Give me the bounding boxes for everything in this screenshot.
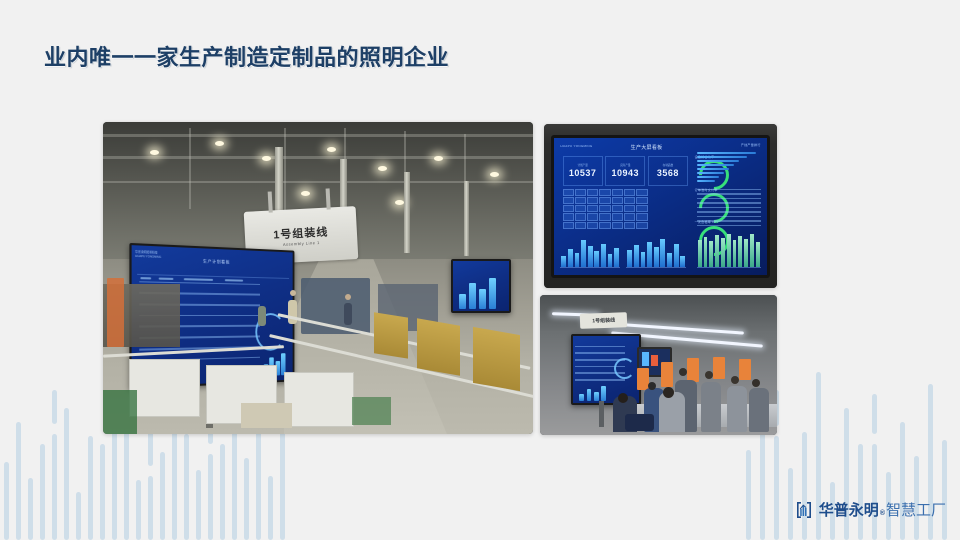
chart-bar (581, 240, 586, 267)
chart-bar (614, 248, 619, 267)
grid-cell (587, 213, 598, 220)
chart-bar (641, 252, 646, 267)
decor-bar (844, 408, 849, 540)
registered-mark: ® (880, 510, 885, 517)
grid-cell (587, 205, 598, 212)
decor-bar (746, 450, 751, 540)
decor-bar (774, 436, 779, 540)
kpi-label: 计划产量 (577, 163, 587, 167)
decor-bar (872, 394, 877, 434)
sign-label-cn: 1号组装线 (273, 224, 329, 243)
sign-label-cn: 1号组装线 (592, 317, 615, 325)
decor-bar (64, 408, 69, 540)
grid-cell (563, 197, 574, 204)
chart-bar (654, 247, 659, 267)
kpi-card: 实际产量 10943 (605, 156, 645, 185)
grid-cell (587, 222, 598, 229)
line-ranking-chart (697, 151, 761, 184)
grid-cell (624, 189, 635, 196)
worker (659, 392, 685, 432)
kpi-label: 在制品数 (663, 163, 673, 167)
grid-cell (599, 197, 610, 204)
kpi-card: 计划产量 10537 (563, 156, 603, 185)
assembly-line-overview-photo: 1号组装线 Assembly Line 1 华普永明照明科技 HUAPU YON… (103, 122, 533, 434)
chart-bar (704, 237, 708, 268)
grid-cell (599, 222, 610, 229)
decor-bar (136, 480, 141, 540)
grid-cell (612, 205, 623, 212)
table-row (697, 207, 761, 209)
grid-cell (599, 205, 610, 212)
footer-logo: 华普永明®智慧工厂 (794, 499, 946, 520)
decor-bar (16, 422, 21, 540)
page-title: 业内唯一一家生产制造定制品的照明企业 (44, 40, 449, 72)
footer-brand: 华普永明 (819, 499, 879, 520)
grid-cell (612, 213, 623, 220)
dashboard-title: 生产大屏看板 (631, 144, 663, 151)
screen-title-bar: 生产计划看板 (135, 249, 290, 272)
chart-bar (738, 236, 742, 267)
chart-bar (627, 250, 632, 267)
kpi-value: 10943 (611, 168, 639, 178)
decor-bar (160, 452, 165, 540)
decor-bar (88, 436, 93, 540)
workers-assembly-line-photo: 1号组装线 (540, 295, 777, 435)
decor-bar (788, 468, 793, 540)
workshop-output-chart (626, 233, 686, 271)
chart-bar (715, 235, 719, 267)
shift-output-grid (563, 189, 648, 229)
grid-cell (636, 222, 647, 229)
chart-bar (568, 249, 573, 267)
table-row (697, 189, 761, 191)
chart-bar (698, 240, 702, 268)
kpi-value: 3568 (657, 168, 679, 178)
line-board-screen (571, 334, 641, 405)
decor-bar (914, 456, 919, 540)
decor-bar (942, 440, 947, 540)
screen-title: 生产计划看板 (203, 258, 230, 265)
decor-bar (4, 462, 9, 540)
table-row (697, 198, 761, 200)
capacity-analysis-chart (697, 233, 761, 271)
decor-bar (196, 470, 201, 540)
rank-bar (697, 172, 724, 174)
grid-cell (563, 189, 574, 196)
chart-bar (634, 245, 639, 267)
decor-bar (802, 432, 807, 540)
decor-bar (858, 444, 863, 540)
grid-cell (563, 205, 574, 212)
table-row (697, 225, 761, 227)
grid-cell (612, 197, 623, 204)
worker (749, 388, 769, 432)
decor-bar (28, 478, 33, 540)
kpi-card: 在制品数 3568 (648, 156, 688, 185)
kpi-value: 10537 (569, 168, 597, 178)
decor-bar (900, 422, 905, 540)
grid-cell (599, 189, 610, 196)
decor-bar (220, 444, 225, 540)
decor-bar (268, 476, 273, 540)
table-row (697, 211, 761, 213)
chart-bar (647, 242, 652, 267)
decor-bar (112, 422, 117, 540)
rank-bar (697, 160, 739, 162)
grid-cell (624, 213, 635, 220)
chart-bar (680, 256, 685, 267)
chart-bar (660, 239, 665, 268)
kpi-label: 实际产量 (620, 163, 630, 167)
grid-cell (563, 222, 574, 229)
screen-gauge (614, 358, 635, 379)
worker (727, 386, 747, 432)
grid-cell (636, 189, 647, 196)
grid-cell (599, 213, 610, 220)
daily-output-chart (560, 233, 620, 271)
decor-bar (40, 444, 45, 540)
rank-bar (697, 156, 747, 158)
chart-bar (709, 241, 713, 267)
secondary-board-screen (451, 259, 511, 313)
grid-cell (587, 197, 598, 204)
footer-sub-brand: 智慧工厂 (886, 499, 946, 520)
chart-bar (667, 253, 672, 268)
chart-bar (588, 246, 593, 267)
dashboard-bezel: HUAPU YONGMING 生产大屏看板 计划产量 10537 实际产量 10… (551, 135, 770, 278)
table-row (697, 216, 761, 218)
grid-cell (563, 213, 574, 220)
table-row (697, 220, 761, 222)
decor-bar (208, 454, 213, 540)
grid-cell (636, 197, 647, 204)
chart-bar (674, 244, 679, 267)
grid-cell (575, 205, 586, 212)
table-row (697, 202, 761, 204)
chart-bar (733, 240, 737, 267)
grid-cell (624, 222, 635, 229)
decor-bar (256, 428, 261, 540)
dashboard-brand: HUAPU YONGMING (560, 144, 592, 148)
grid-cell (624, 205, 635, 212)
rank-bar (697, 152, 756, 154)
chart-bar (756, 242, 760, 267)
grid-cell (624, 197, 635, 204)
chart-bar (727, 234, 731, 268)
grid-cell (575, 197, 586, 204)
grid-cell (575, 189, 586, 196)
chart-bar (608, 254, 613, 267)
rank-bar (697, 180, 715, 182)
rank-bar (697, 168, 729, 170)
decor-bar (100, 444, 105, 540)
chart-bar (601, 244, 606, 268)
rank-bar (697, 176, 719, 178)
dashboard-screen: HUAPU YONGMING 生产大屏看板 计划产量 10537 实际产量 10… (554, 138, 767, 275)
grid-cell (636, 213, 647, 220)
rank-bar (697, 164, 734, 166)
chart-bar (561, 256, 566, 267)
assembly-line-sign: 1号组装线 (580, 312, 628, 329)
panel-title: 产线产量排行 (741, 143, 761, 147)
decor-bar (52, 434, 57, 540)
grid-cell (612, 189, 623, 196)
production-dashboard-photo: HUAPU YONGMING 生产大屏看板 计划产量 10537 实际产量 10… (544, 124, 777, 288)
grid-cell (587, 189, 598, 196)
grid-cell (612, 222, 623, 229)
decor-bar (872, 444, 877, 540)
chart-bar (750, 234, 754, 267)
grid-cell (575, 222, 586, 229)
chart-bar (744, 239, 748, 267)
chart-bar (575, 253, 580, 268)
grid-cell (575, 213, 586, 220)
worker (701, 382, 721, 432)
chart-bar (594, 251, 599, 267)
work-order-table (697, 188, 761, 229)
grid-cell (636, 205, 647, 212)
decor-bar (76, 492, 81, 540)
decor-bar (184, 434, 189, 540)
decor-bar (52, 390, 57, 424)
decor-bar (244, 458, 249, 540)
chart-bar (721, 238, 725, 267)
table-row (697, 193, 761, 195)
decor-bar (148, 476, 153, 540)
sign-label-en: Assembly Line 1 (283, 240, 320, 247)
chart-bracket-icon (794, 500, 814, 520)
